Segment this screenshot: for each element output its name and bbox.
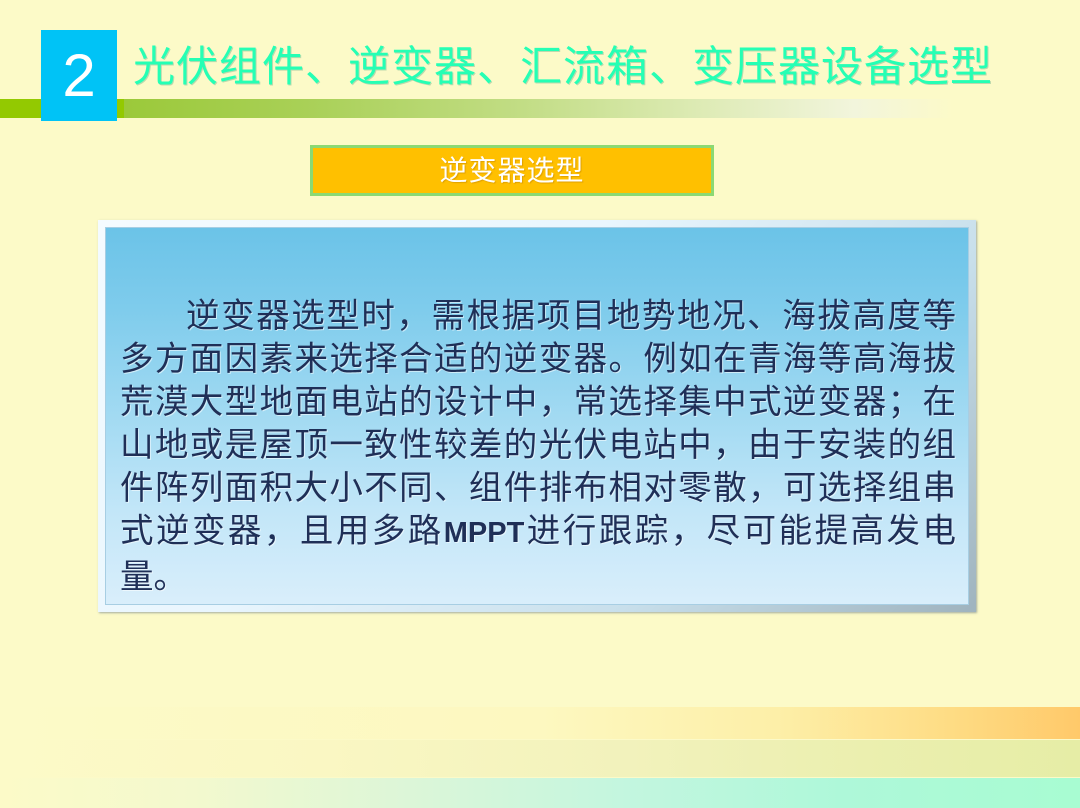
section-number-chip: 2 <box>41 30 117 121</box>
footer-band-pale <box>0 740 1080 777</box>
footer-band-mint <box>0 778 1080 808</box>
header-accent-bar-gradient <box>124 99 954 118</box>
body-paragraph: 逆变器选型时，需根据项目地势地况、海拔高度等多方面因素来选择合适的逆变器。例如在… <box>120 294 956 598</box>
body-paragraph-mppt-term: MPPT <box>444 517 525 549</box>
content-box-inner: 逆变器选型时，需根据项目地势地况、海拔高度等多方面因素来选择合适的逆变器。例如在… <box>105 227 969 605</box>
page-title: 光伏组件、逆变器、汇流箱、变压器设备选型 <box>133 36 993 98</box>
subtitle-banner: 逆变器选型 <box>310 145 714 196</box>
slide-canvas: 2 光伏组件、逆变器、汇流箱、变压器设备选型 逆变器选型 逆变器选型时，需根据项… <box>0 0 1080 808</box>
slide-header: 2 光伏组件、逆变器、汇流箱、变压器设备选型 <box>0 0 1080 130</box>
content-box: 逆变器选型时，需根据项目地势地况、海拔高度等多方面因素来选择合适的逆变器。例如在… <box>98 220 976 612</box>
footer-band-orange <box>0 707 1080 739</box>
subtitle-banner-label: 逆变器选型 <box>313 148 711 193</box>
section-number-label: 2 <box>41 30 117 121</box>
